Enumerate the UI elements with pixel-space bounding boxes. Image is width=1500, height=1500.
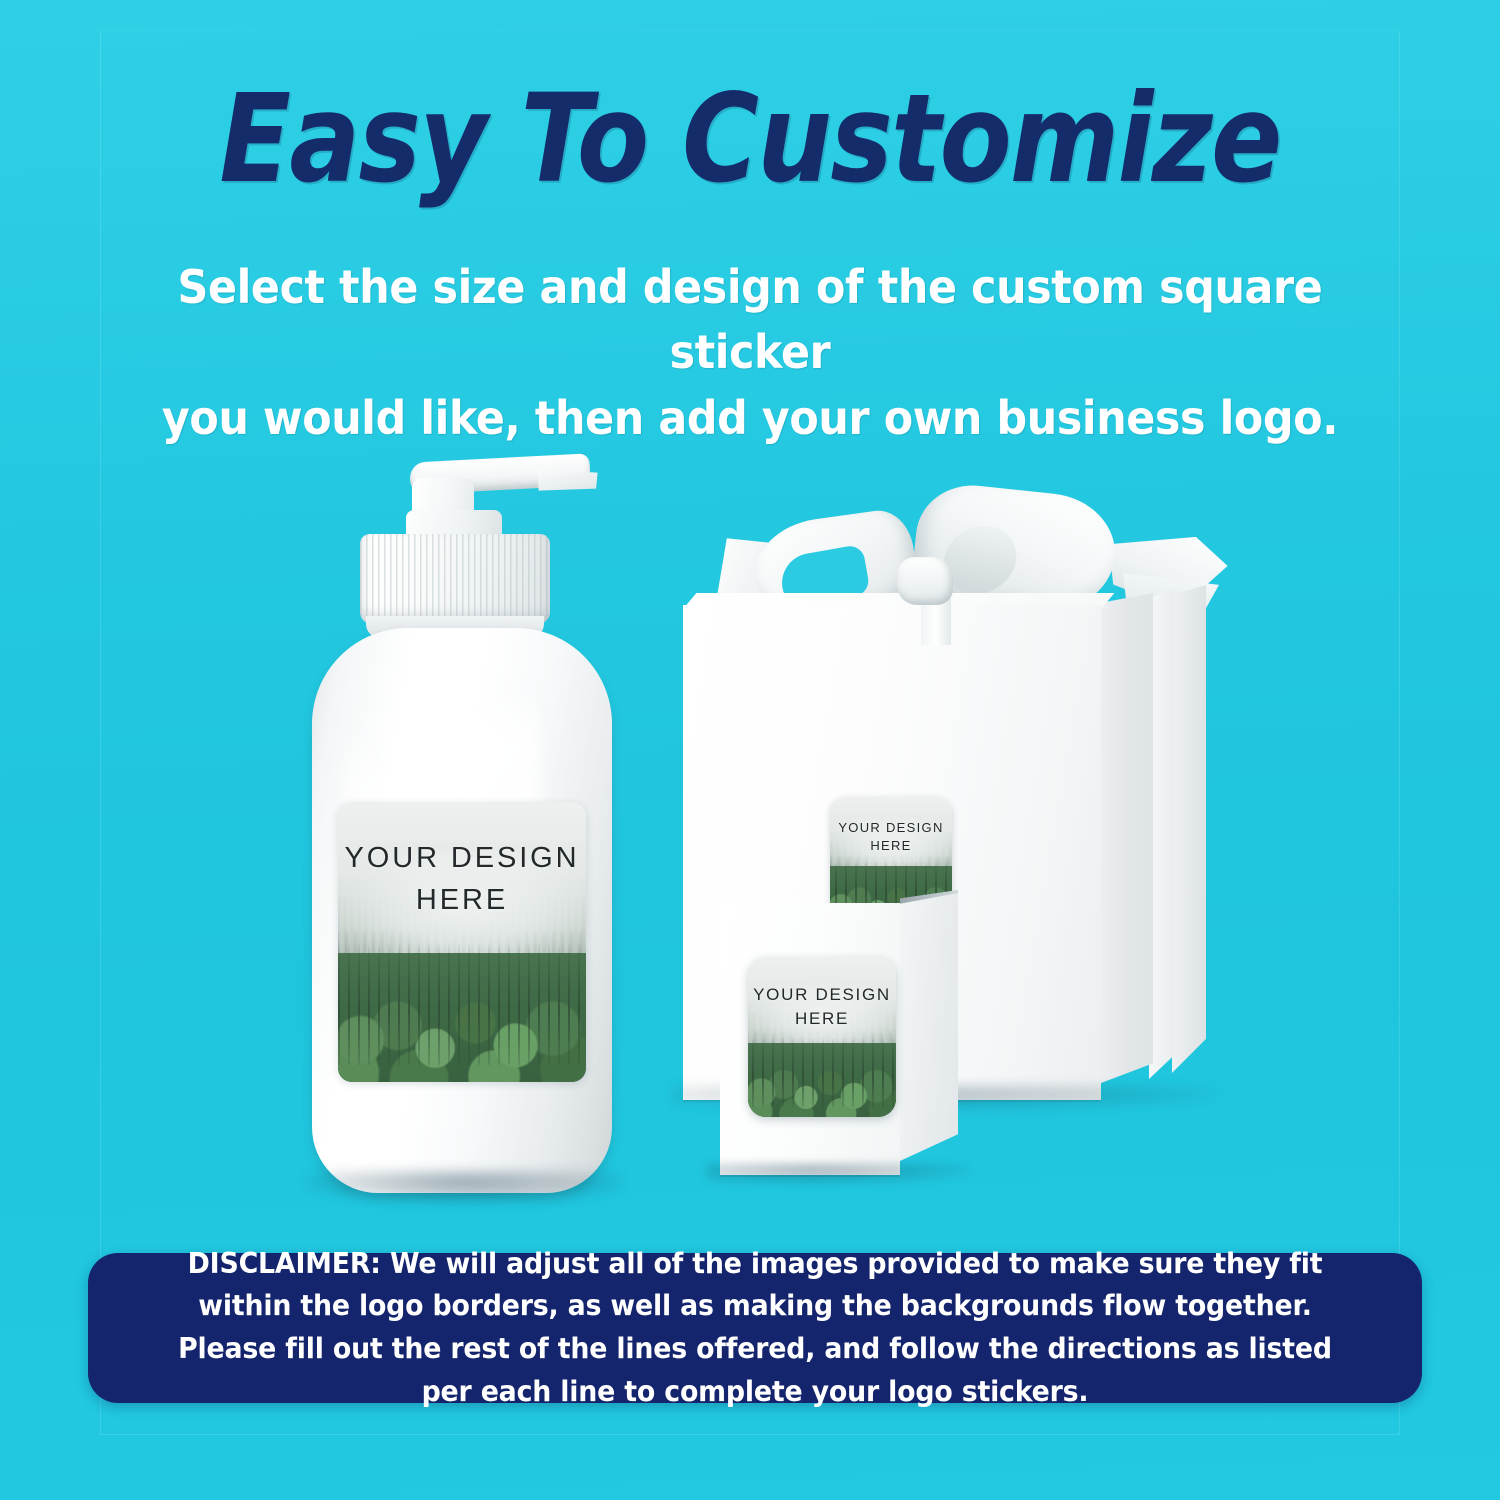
gift-box-side-c xyxy=(1172,585,1206,1073)
forest-artwork: YOUR DESIGN HERE xyxy=(338,802,586,1082)
pump-bottle-mockup: YOUR DESIGN HERE xyxy=(300,430,630,1220)
forest-artwork: YOUR DESIGN HERE xyxy=(748,957,896,1117)
subtitle-line-1: Select the size and design of the custom… xyxy=(155,255,1345,386)
small-box-side-face xyxy=(900,893,958,1161)
page-title: Easy To Customize xyxy=(105,78,1395,200)
sticker-design-text: YOUR DESIGN HERE xyxy=(748,983,896,1031)
small-box-shadow xyxy=(706,1163,970,1185)
ribbon-knot xyxy=(897,557,953,605)
disclaimer-text: DISCLAIMER: We will adjust all of the im… xyxy=(163,1243,1347,1414)
bottle-shadow xyxy=(306,1172,622,1202)
artwork-highlight xyxy=(748,957,896,1117)
pump-ribbed-collar xyxy=(360,534,550,624)
sticker-design-text: YOUR DESIGN HERE xyxy=(830,819,952,856)
sticker-on-small-box: YOUR DESIGN HERE xyxy=(748,957,896,1117)
disclaimer-banner: DISCLAIMER: We will adjust all of the im… xyxy=(88,1253,1422,1403)
product-mockup-stage: YOUR DESIGN HERE YOUR DESIGN HERE xyxy=(0,400,1500,1220)
small-box-mockup: YOUR DESIGN HERE xyxy=(710,895,980,1185)
label-on-bottle: YOUR DESIGN HERE xyxy=(338,802,586,1082)
sticker-design-text: YOUR DESIGN HERE xyxy=(338,838,586,920)
gift-box-side-a xyxy=(1101,593,1153,1083)
